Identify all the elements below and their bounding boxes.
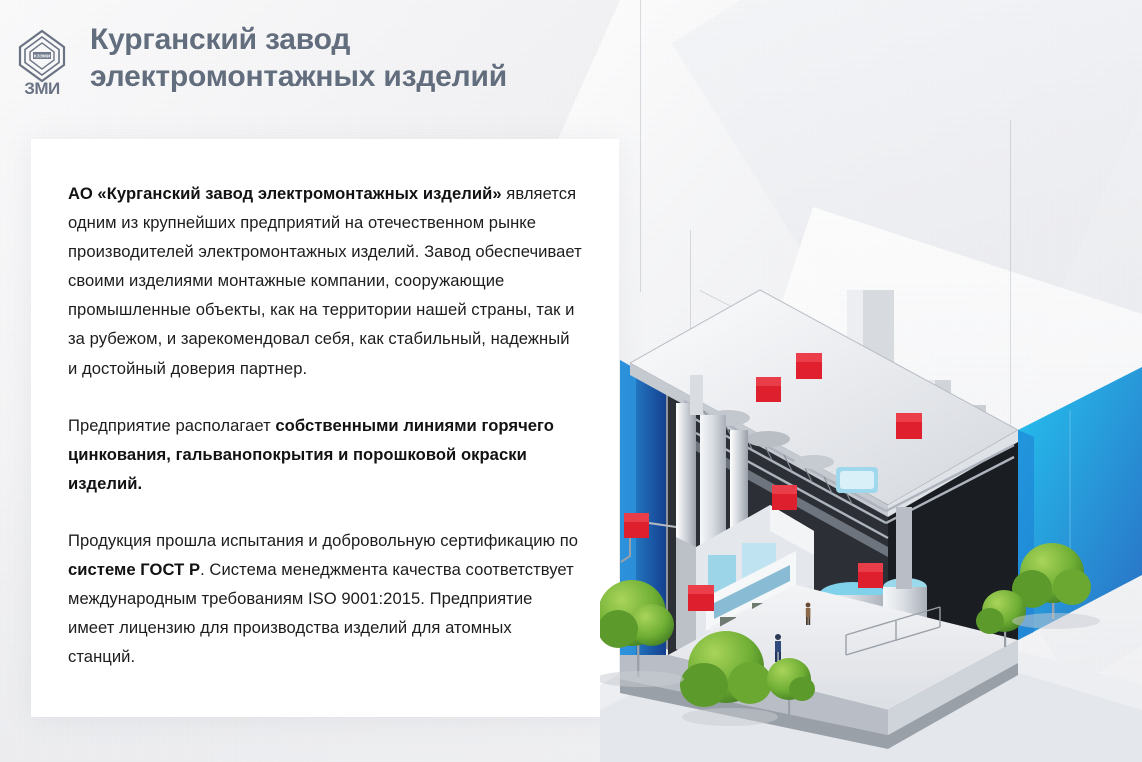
marker-pin-3 [896, 413, 922, 439]
factory-illustration [600, 255, 1142, 762]
slide-root: КЗЭМИ ЗМИ Курганский завод электромонтаж… [0, 0, 1142, 762]
marker-pin-4 [772, 485, 797, 510]
tree-shadow-2 [682, 708, 778, 726]
page-header: КЗЭМИ ЗМИ Курганский завод электромонтаж… [14, 22, 507, 98]
paragraph-intro: АО «Курганский завод электромонтажных из… [68, 179, 583, 383]
page-title: Курганский завод электромонтажных издели… [90, 22, 507, 96]
marker-pin-1 [796, 353, 822, 379]
paragraph-certification: Продукция прошла испытания и добровольну… [68, 526, 583, 671]
tank-riser [896, 507, 912, 589]
factory-cutaway-graphic [600, 255, 1142, 762]
content-card: АО «Курганский завод электромонтажных из… [31, 139, 619, 717]
logo-sub-text: ЗМИ [24, 79, 60, 98]
logo-icon: КЗЭМИ ЗМИ [14, 28, 70, 98]
marker-pin-2 [756, 377, 781, 402]
marker-pin-6 [688, 585, 714, 611]
tree-shadow-4 [1012, 613, 1100, 629]
tree-shadow-1 [600, 671, 684, 687]
paragraph-production-lines: Предприятие располагает собственными лин… [68, 411, 583, 498]
content-card-body: АО «Курганский завод электромонтажных из… [31, 139, 619, 671]
company-logo: КЗЭМИ ЗМИ [14, 28, 70, 98]
logo-mark-text: КЗЭМИ [34, 54, 50, 59]
marker-pin-7 [858, 563, 883, 588]
